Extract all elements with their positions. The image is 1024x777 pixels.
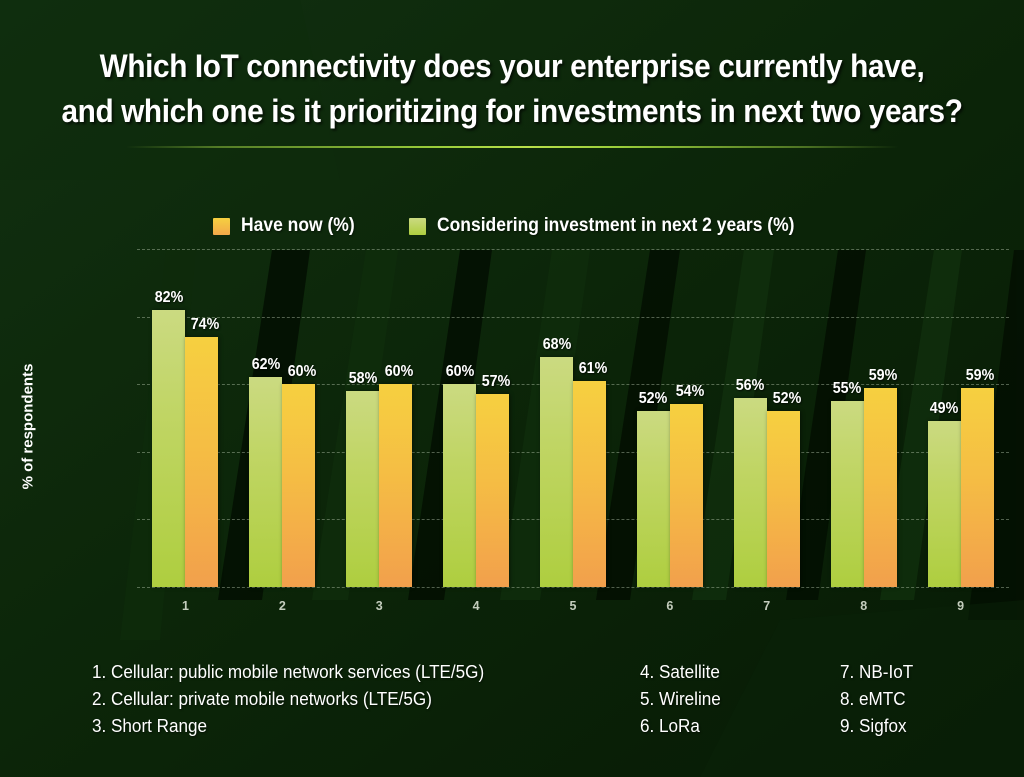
bar-value-label: 68% (542, 336, 571, 354)
bar-value-label: 52% (639, 390, 668, 408)
x-axis-tick: 4 (473, 599, 480, 613)
bar[interactable]: 52% (767, 411, 800, 587)
legend-item-considering[interactable]: Considering investment in next 2 years (… (409, 215, 826, 237)
category-key-item: 4. Satellite (640, 662, 830, 683)
legend-swatch-have-now (213, 218, 230, 235)
category-key-item: 3. Short Range (92, 716, 613, 737)
bar-group: 49%59%9 (912, 249, 1009, 587)
x-axis-tick: 6 (666, 599, 673, 613)
bar-considering[interactable]: 62% (249, 249, 282, 587)
x-axis-tick: 9 (957, 599, 964, 613)
bar-value-label: 56% (736, 377, 765, 395)
bar-value-label: 57% (482, 373, 511, 391)
category-key-column-2: 4. Satellite5. Wireline6. LoRa (640, 662, 840, 737)
bar[interactable]: 58% (346, 391, 379, 587)
bar-value-label: 59% (869, 367, 898, 385)
plot-area: 0%20%40%60%80%100% 82%74%162%60%258%60%3… (137, 249, 1009, 587)
bar-group: 55%59%8 (815, 249, 912, 587)
bar-considering[interactable]: 82% (152, 249, 185, 587)
category-key-column-3: 7. NB-IoT8. eMTC9. Sigfox (840, 662, 917, 737)
chart-legend: Have now (%) Considering investment in n… (213, 215, 825, 237)
bar-have-now[interactable]: 54% (670, 249, 703, 587)
category-key-item: 6. LoRa (640, 716, 830, 737)
title-divider (126, 146, 898, 148)
bar-considering[interactable]: 49% (928, 249, 961, 587)
bar[interactable]: 49% (928, 421, 961, 587)
bar[interactable]: 56% (734, 398, 767, 587)
legend-label-have-now: Have now (%) (241, 215, 355, 237)
legend-label-considering: Considering investment in next 2 years (… (437, 215, 794, 237)
y-axis-label: % of respondents (20, 364, 37, 490)
bar[interactable]: 55% (831, 401, 864, 587)
bar[interactable]: 59% (961, 388, 994, 587)
category-key: 1. Cellular: public mobile network servi… (92, 662, 992, 737)
legend-item-have-now[interactable]: Have now (%) (213, 215, 365, 237)
bar-group: 58%60%3 (331, 249, 428, 587)
bar-value-label: 58% (348, 370, 377, 388)
bar-value-label: 52% (772, 390, 801, 408)
bar-considering[interactable]: 55% (831, 249, 864, 587)
category-key-item: 9. Sigfox (840, 716, 913, 737)
bar-value-label: 49% (930, 400, 959, 418)
chart-title: Which IoT connectivity does your enterpr… (0, 44, 1024, 148)
bar-value-label: 55% (833, 380, 862, 398)
x-axis-tick: 5 (570, 599, 577, 613)
bar[interactable]: 82% (152, 310, 185, 587)
gridline (137, 587, 1009, 588)
bar-considering[interactable]: 68% (540, 249, 573, 587)
bar[interactable]: 60% (282, 384, 315, 587)
bar-value-label: 62% (252, 356, 281, 374)
category-key-item: 5. Wireline (640, 689, 830, 710)
bar-have-now[interactable]: 60% (282, 249, 315, 587)
bar-group: 52%54%6 (621, 249, 718, 587)
x-axis-tick: 2 (279, 599, 286, 613)
bar-have-now[interactable]: 52% (767, 249, 800, 587)
bar-have-now[interactable]: 57% (476, 249, 509, 587)
bar-value-label: 54% (675, 383, 704, 401)
bar-value-label: 60% (385, 363, 414, 381)
title-line-1: Which IoT connectivity does your enterpr… (36, 44, 988, 89)
bar-have-now[interactable]: 74% (185, 249, 218, 587)
bar-considering[interactable]: 60% (443, 249, 476, 587)
bar-value-label: 74% (191, 316, 220, 334)
bar[interactable]: 68% (540, 357, 573, 587)
bar[interactable]: 59% (864, 388, 897, 587)
title-line-2: and which one is it prioritizing for inv… (36, 89, 988, 134)
bar-value-label: 60% (445, 363, 474, 381)
bar-group: 62%60%2 (234, 249, 331, 587)
bar-value-label: 59% (966, 367, 995, 385)
category-key-item: 2. Cellular: private mobile networks (LT… (92, 689, 613, 710)
bar[interactable]: 62% (249, 377, 282, 587)
category-key-item: 8. eMTC (840, 689, 913, 710)
category-key-item: 1. Cellular: public mobile network servi… (92, 662, 613, 683)
bar-have-now[interactable]: 59% (864, 249, 897, 587)
legend-swatch-considering (409, 218, 426, 235)
bar-groups: 82%74%162%60%258%60%360%57%468%61%552%54… (137, 249, 1009, 587)
bar-considering[interactable]: 58% (346, 249, 379, 587)
bar-group: 68%61%5 (525, 249, 622, 587)
category-key-column-1: 1. Cellular: public mobile network servi… (92, 662, 640, 737)
bar[interactable]: 60% (379, 384, 412, 587)
bar[interactable]: 52% (637, 411, 670, 587)
bar-group: 82%74%1 (137, 249, 234, 587)
x-axis-tick: 8 (860, 599, 867, 613)
bar[interactable]: 54% (670, 404, 703, 587)
bar-group: 60%57%4 (428, 249, 525, 587)
bar-group: 56%52%7 (718, 249, 815, 587)
bar-have-now[interactable]: 59% (961, 249, 994, 587)
bar[interactable]: 61% (573, 381, 606, 587)
bar-value-label: 82% (155, 289, 184, 307)
bar-have-now[interactable]: 60% (379, 249, 412, 587)
bar-considering[interactable]: 52% (637, 249, 670, 587)
x-axis-tick: 7 (763, 599, 770, 613)
bar-value-label: 60% (288, 363, 317, 381)
bar[interactable]: 74% (185, 337, 218, 587)
bar-considering[interactable]: 56% (734, 249, 767, 587)
category-key-item: 7. NB-IoT (840, 662, 913, 683)
bar[interactable]: 57% (476, 394, 509, 587)
x-axis-tick: 3 (376, 599, 383, 613)
x-axis-tick: 1 (182, 599, 189, 613)
bar-value-label: 61% (579, 360, 608, 378)
bar-have-now[interactable]: 61% (573, 249, 606, 587)
bar[interactable]: 60% (443, 384, 476, 587)
